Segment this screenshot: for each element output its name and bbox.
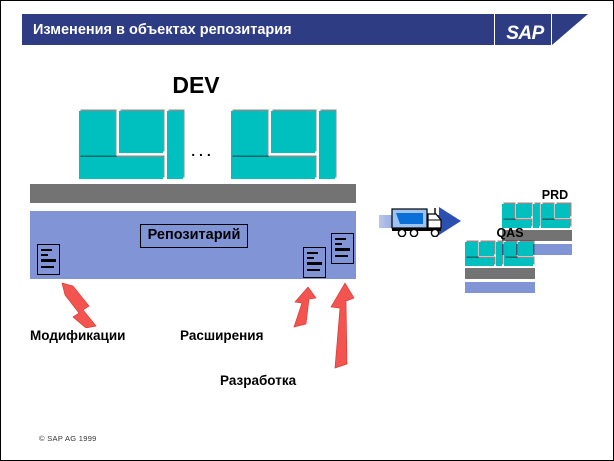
dev-database-bar bbox=[30, 184, 356, 203]
red-arrow-icon bbox=[290, 286, 320, 328]
qas-system-label: QAS bbox=[487, 225, 533, 241]
footer-copyright: © SAP AG 1999 bbox=[39, 433, 97, 445]
ellipsis-label: . . . bbox=[184, 142, 218, 160]
page-title: Изменения в объектах репозитария bbox=[33, 19, 473, 41]
delivery-truck-icon bbox=[391, 205, 451, 237]
prd-system-label: PRD bbox=[532, 187, 578, 203]
document-icon bbox=[303, 247, 326, 278]
annotation-label-development: Разработка bbox=[220, 372, 296, 390]
repository-label: Репозитарий bbox=[140, 224, 248, 248]
sap-logo-text: SAP bbox=[498, 23, 552, 45]
annotation-label-extensions: Расширения bbox=[180, 327, 263, 345]
system-cube-icon bbox=[79, 111, 183, 179]
red-arrow-icon bbox=[53, 282, 101, 328]
red-arrow-icon bbox=[326, 282, 358, 370]
slide-canvas: Изменения в объектах репозитария SAP DEV… bbox=[0, 0, 614, 461]
qas-repository-bar bbox=[465, 282, 535, 293]
annotation-label-modifications: Модификации bbox=[30, 327, 125, 345]
qas-database-bar bbox=[465, 268, 535, 279]
document-icon bbox=[37, 244, 60, 275]
sap-logo-diagonal bbox=[552, 14, 588, 45]
document-icon bbox=[331, 233, 354, 264]
system-cube-icon bbox=[231, 111, 335, 179]
system-cube-icon bbox=[465, 242, 535, 266]
dev-system-label: DEV bbox=[151, 72, 241, 98]
